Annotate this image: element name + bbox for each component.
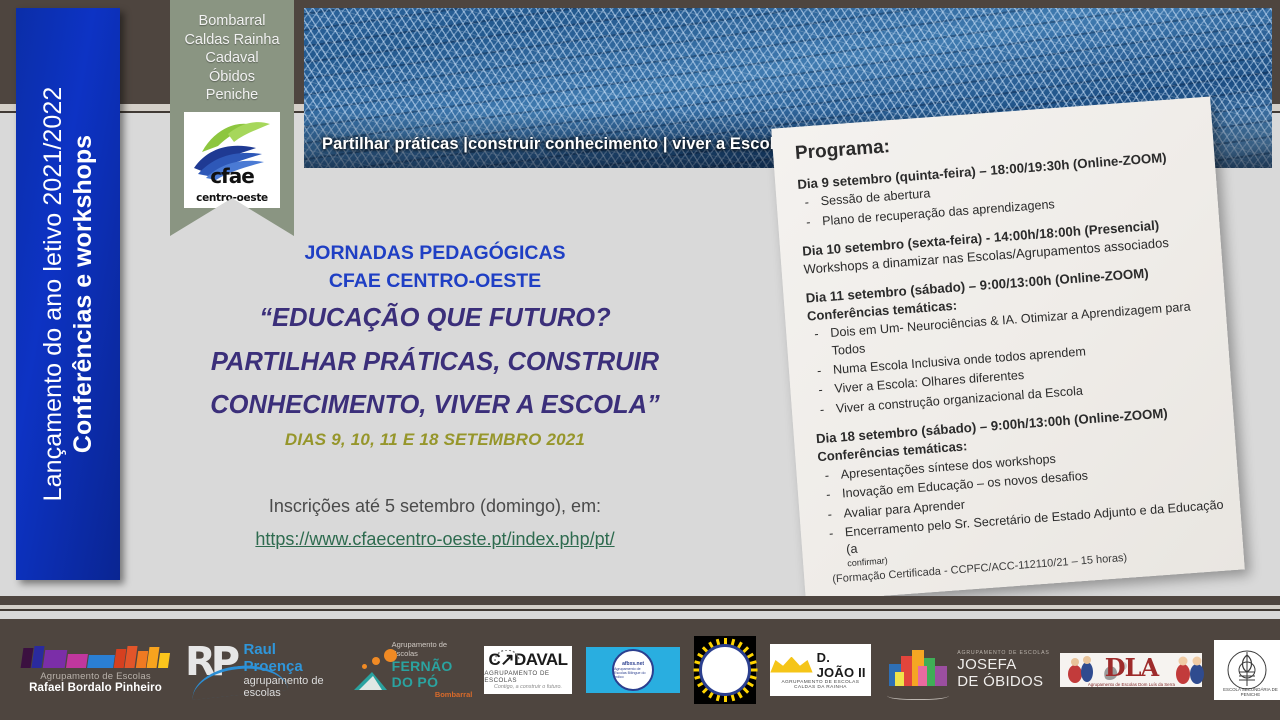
- partner-logo-strip: Agrupamento de Escolas Rafael Bordalo Pi…: [0, 619, 1280, 720]
- rbp-bars-icon: [22, 646, 169, 668]
- town-bombarral: Bombarral: [170, 12, 294, 31]
- footer-rule-light-2: [0, 611, 1280, 619]
- cadaval-arc-icon: [494, 650, 520, 662]
- theme-line-2: PARTILHAR PRÁTICAS, CONSTRUIR: [150, 343, 720, 383]
- registration-text: Inscrições até 5 setembro (domingo), em:: [150, 496, 720, 517]
- cadaval-line-3: Contigo, a construir o futuro.: [494, 684, 562, 690]
- left-title-banner-text: Lançamento do ano letivo 2021/2022 Confe…: [16, 8, 120, 580]
- program-panel: Programa: Dia 9 setembro (quinta-feira) …: [771, 97, 1245, 602]
- footer-rule-dark-1: [0, 596, 1280, 605]
- fp-line-3: Bombarral: [392, 690, 473, 699]
- program-content: Programa: Dia 9 setembro (quinta-feira) …: [794, 113, 1230, 569]
- fp-mountain-icon: [354, 647, 389, 693]
- logo-fernao-do-po: Agrupamento de Escolas FERNÃO DO PÓ Bomb…: [354, 640, 472, 699]
- logo-cadaval: C↗DAVAL AGRUPAMENTO DE ESCOLAS Contigo, …: [484, 646, 571, 694]
- slide-canvas: Lançamento do ano letivo 2021/2022 Confe…: [0, 0, 1280, 720]
- djii-line-1: D. JOÃO II: [817, 650, 871, 680]
- fp-line-1: Agrupamento de Escolas: [392, 640, 473, 658]
- afbx-seal-icon: afbxs.net Agrupamento de Escolas Bilingu…: [612, 649, 654, 691]
- logo-afbx-net: afbxs.net Agrupamento de Escolas Bilingu…: [586, 647, 681, 693]
- banner-line-1: Lançamento do ano letivo 2021/2022: [38, 87, 69, 502]
- crown-icon: [770, 657, 812, 673]
- event-dates: DIAS 9, 10, 11 E 18 SETEMBRO 2021: [150, 430, 720, 450]
- left-title-banner: Lançamento do ano letivo 2021/2022 Confe…: [16, 8, 120, 580]
- ribbon-town-list: Bombarral Caldas Rainha Cadaval Óbidos P…: [170, 12, 294, 105]
- logo-agrupamento-peniche: [694, 636, 756, 704]
- logo-dla: DLA Agrupamento de Escolas Dom Luís da S…: [1060, 653, 1202, 687]
- dla-tagline: Agrupamento de Escolas Dom Luís da Serra: [1088, 682, 1175, 687]
- registration-link[interactable]: https://www.cfaecentro-oeste.pt/index.ph…: [255, 529, 614, 550]
- josefa-book-icon: [887, 689, 949, 700]
- rbp-line-1: Agrupamento de Escolas: [40, 671, 151, 682]
- theme-line-3: CONHECIMENTO, VIVER A ESCOLA”: [150, 386, 720, 426]
- cfae-logo: cfae centro-oeste: [184, 112, 280, 208]
- sun-disc-icon: [699, 644, 751, 696]
- banner-line-2: Conferências e workshops: [68, 135, 99, 453]
- main-heading-1: JORNADAS PEDAGÓGICAS: [150, 240, 720, 268]
- djii-line-3: CALDAS DA RAINHA: [794, 685, 847, 690]
- main-text-block: JORNADAS PEDAGÓGICAS CFAE CENTRO-OESTE “…: [150, 240, 720, 550]
- logo-dom-joao-ii: D. JOÃO II AGRUPAMENTO DE ESCOLAS CALDAS…: [770, 644, 870, 696]
- town-obidos: Óbidos: [170, 68, 294, 87]
- town-caldas-rainha: Caldas Rainha: [170, 31, 294, 50]
- cadaval-line-2: AGRUPAMENTO DE ESCOLAS: [484, 670, 571, 684]
- theme-line-1: “EDUCAÇÃO QUE FUTURO?: [150, 299, 720, 339]
- logo-josefa-de-obidos: AGRUPAMENTO DE ESCOLAS JOSEFA DE ÓBIDOS: [887, 646, 1051, 694]
- peniche-caption: ESCOLA SECUNDÁRIA DE PENICHE: [1214, 687, 1280, 697]
- main-heading-2: CFAE CENTRO-OESTE: [150, 268, 720, 296]
- logo-escola-secundaria-peniche: ESCOLA SECUNDÁRIA DE PENICHE: [1214, 640, 1280, 700]
- josefa-line-1: JOSEFA: [957, 656, 1049, 673]
- town-cadaval: Cadaval: [170, 49, 294, 68]
- josefa-line-2: DE ÓBIDOS: [957, 673, 1049, 690]
- fp-line-2: FERNÃO DO PÓ: [392, 658, 473, 690]
- town-peniche: Peniche: [170, 86, 294, 105]
- logo-rafael-bordalo-pinheiro: Agrupamento de Escolas Rafael Bordalo Pi…: [22, 646, 169, 694]
- rbp-line-2: Rafael Bordalo Pinheiro: [29, 682, 162, 694]
- josefa-blocks-icon: [887, 646, 949, 694]
- afbx-seal-line-2: Agrupamento de Escolas Bilingue do Índic…: [614, 667, 652, 679]
- cfae-wordmark: cfae: [184, 164, 280, 188]
- logo-raul-proenca: RP Raul Proença agrupamento de escolas: [185, 641, 338, 699]
- dla-letters: DLA: [1105, 653, 1158, 682]
